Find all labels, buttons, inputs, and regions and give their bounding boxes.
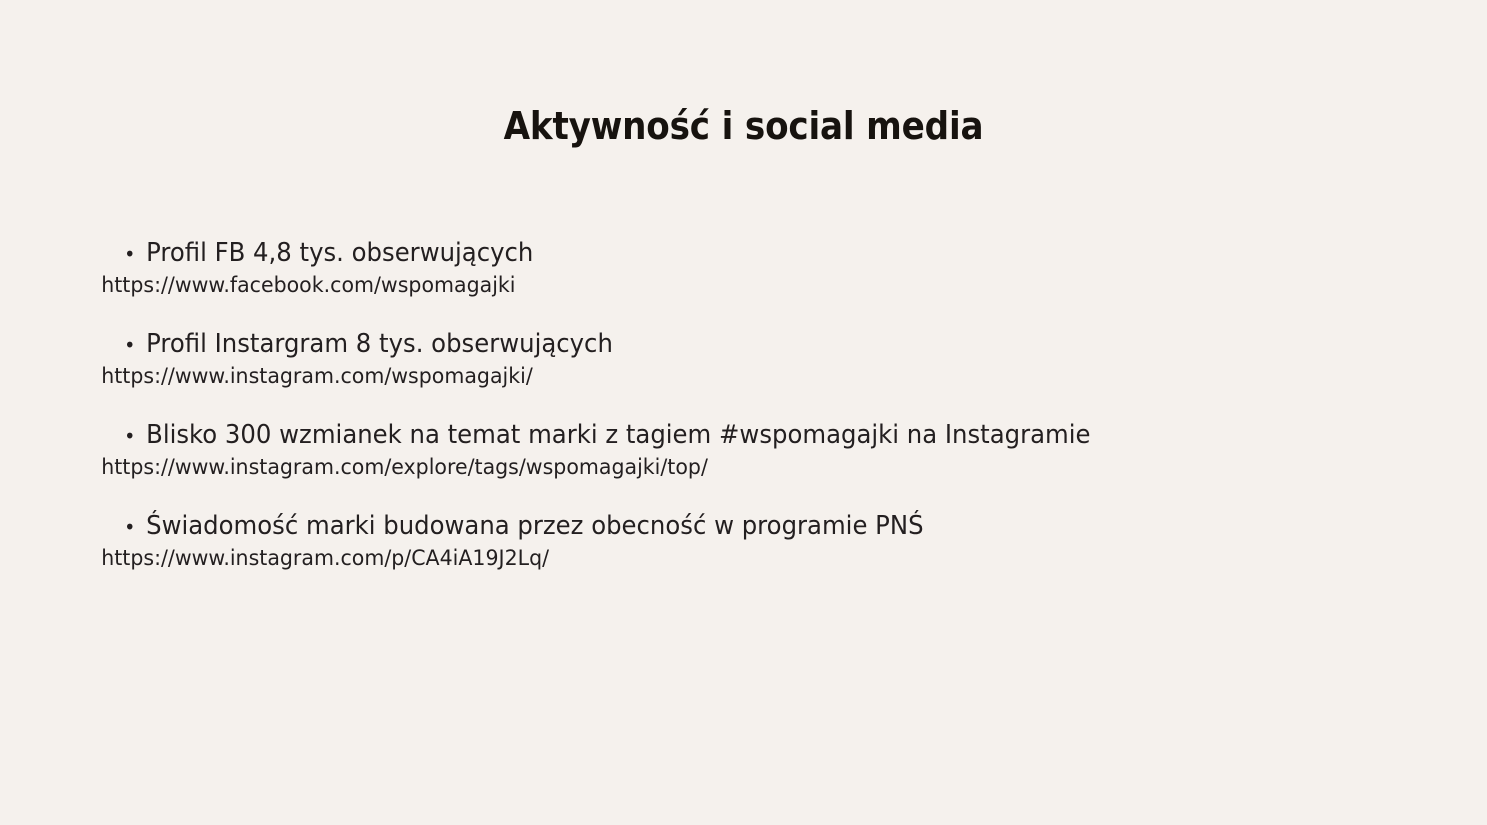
bullet-url-link[interactable]: https://www.instagram.com/p/CA4iA19J2Lq/ [0,545,1420,573]
bullet-row: • Profil Instargram 8 tys. obserwujących [0,329,1420,360]
bullet-point-icon: • [124,239,146,269]
bullet-url-link[interactable]: https://www.instagram.com/explore/tags/w… [0,454,1420,482]
bullet-text: Profil Instargram 8 tys. obserwujących [146,329,613,359]
list-item: • Świadomość marki budowana przez obecno… [0,511,1487,573]
bullet-row: • Blisko 300 wzmianek na temat marki z t… [0,420,1420,451]
bullet-row: • Profil FB 4,8 tys. obserwujących [0,238,1420,269]
bullet-list: • Profil FB 4,8 tys. obserwujących https… [0,238,1487,602]
list-item: • Profil Instargram 8 tys. obserwujących… [0,329,1487,391]
bullet-url-link[interactable]: https://www.instagram.com/wspomagajki/ [0,363,1420,391]
bullet-point-icon: • [124,421,146,451]
bullet-point-icon: • [124,330,146,360]
list-item: • Blisko 300 wzmianek na temat marki z t… [0,420,1487,482]
bullet-text: Blisko 300 wzmianek na temat marki z tag… [146,420,1090,450]
list-item: • Profil FB 4,8 tys. obserwujących https… [0,238,1487,300]
bullet-text: Profil FB 4,8 tys. obserwujących [146,238,533,268]
bullet-row: • Świadomość marki budowana przez obecno… [0,511,1420,542]
bullet-point-icon: • [124,512,146,542]
page-title: Aktywność i social media [74,104,1412,148]
bullet-text: Świadomość marki budowana przez obecność… [146,511,923,541]
bullet-url-link[interactable]: https://www.facebook.com/wspomagajki [0,272,1420,300]
presentation-slide: Aktywność i social media • Profil FB 4,8… [0,0,1487,825]
